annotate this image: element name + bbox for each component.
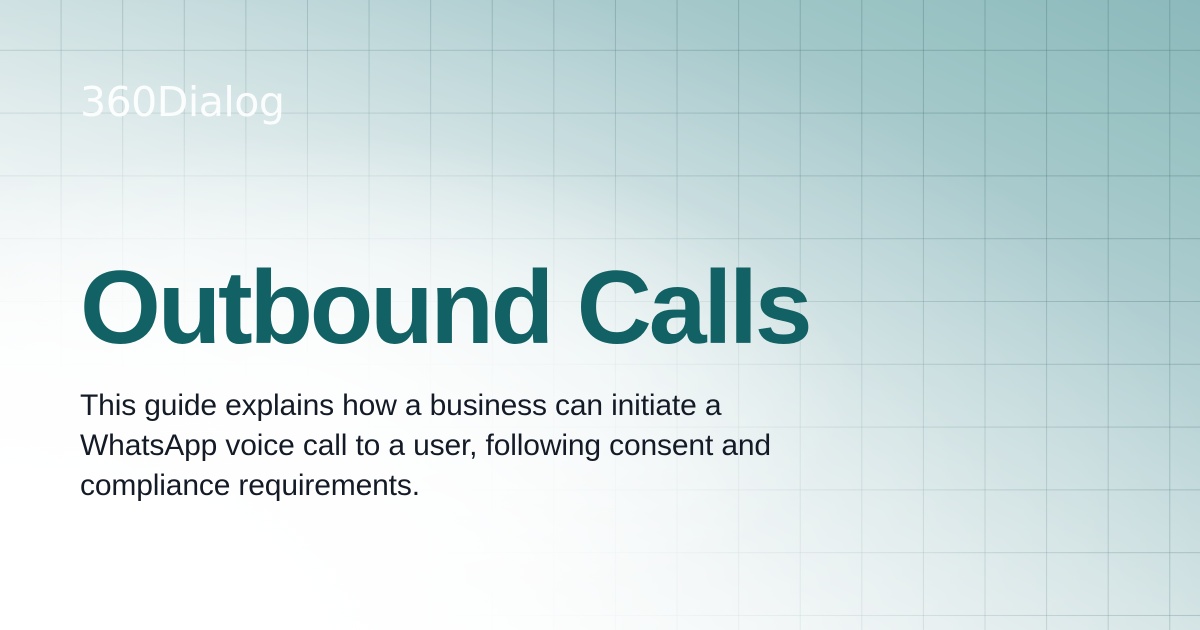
brand-logo: 360Dialog: [80, 82, 284, 123]
page-title: Outbound Calls: [80, 256, 809, 360]
banner-content: 360Dialog Outbound Calls This guide expl…: [0, 0, 1200, 630]
promo-banner: 360Dialog Outbound Calls This guide expl…: [0, 0, 1200, 630]
page-subtitle: This guide explains how a business can i…: [80, 386, 780, 506]
